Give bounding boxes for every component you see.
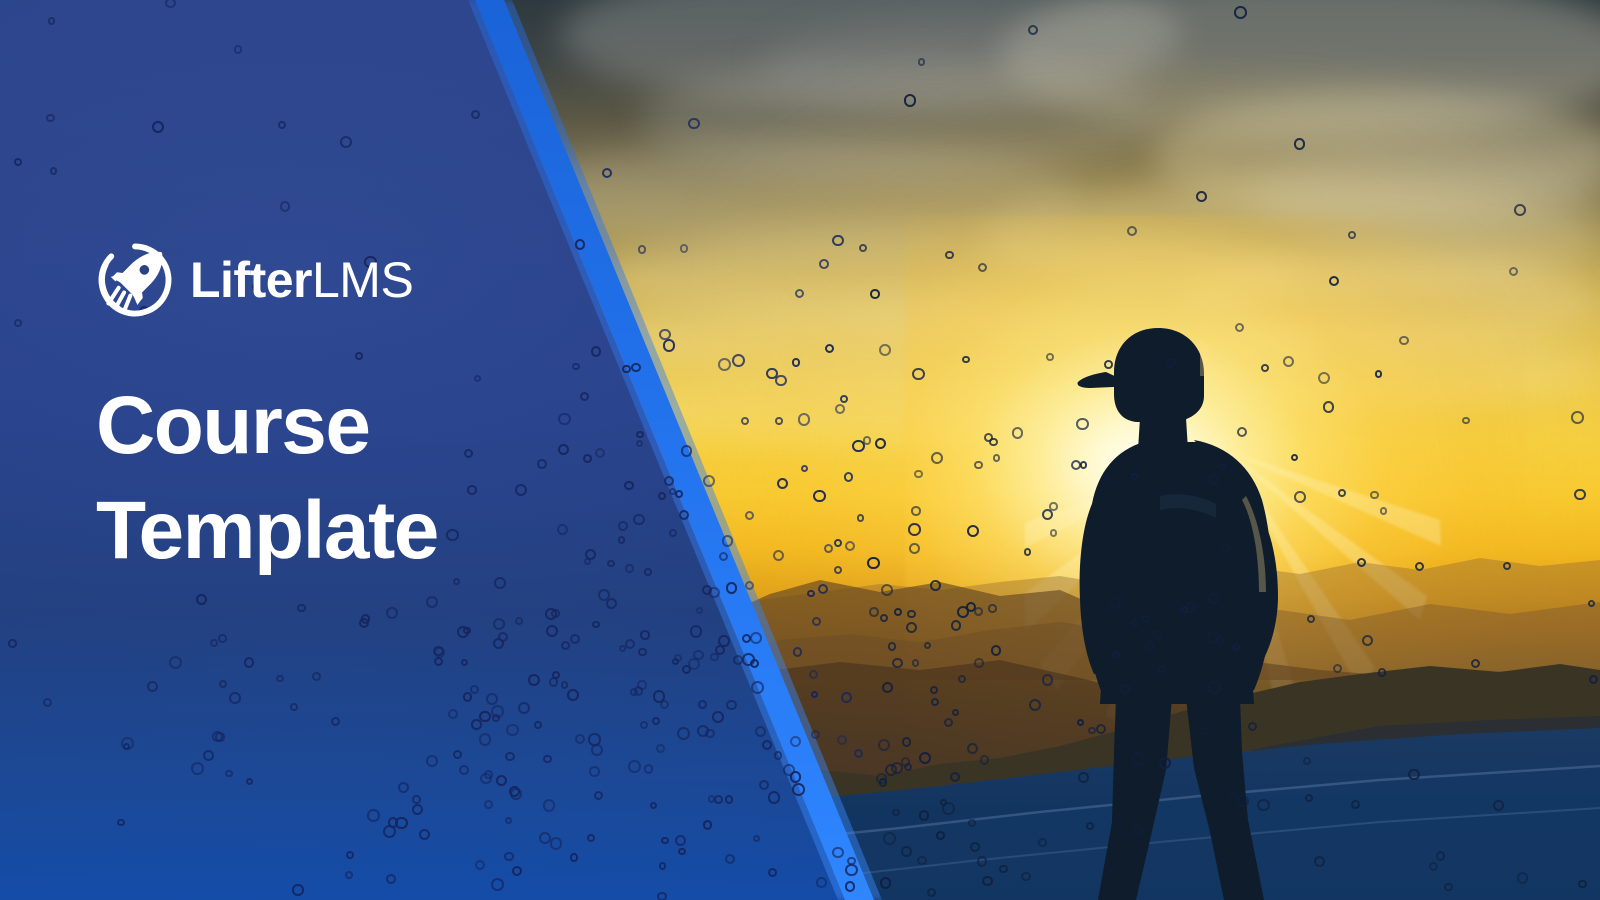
hiker-silhouette xyxy=(1040,300,1320,900)
title-line-2: Template xyxy=(96,479,566,584)
brand-logo[interactable]: LifterLMS xyxy=(96,232,566,328)
rocket-in-circle-icon xyxy=(96,241,174,319)
course-template-banner: LifterLMS Course Template xyxy=(0,0,1600,900)
wordmark-lifter: Lifter xyxy=(190,252,312,308)
wordmark-lms: LMS xyxy=(312,252,413,308)
page-title: Course Template xyxy=(96,374,566,584)
banner-content: LifterLMS Course Template xyxy=(96,232,566,639)
title-line-1: Course xyxy=(96,374,566,479)
brand-wordmark: LifterLMS xyxy=(190,255,413,305)
